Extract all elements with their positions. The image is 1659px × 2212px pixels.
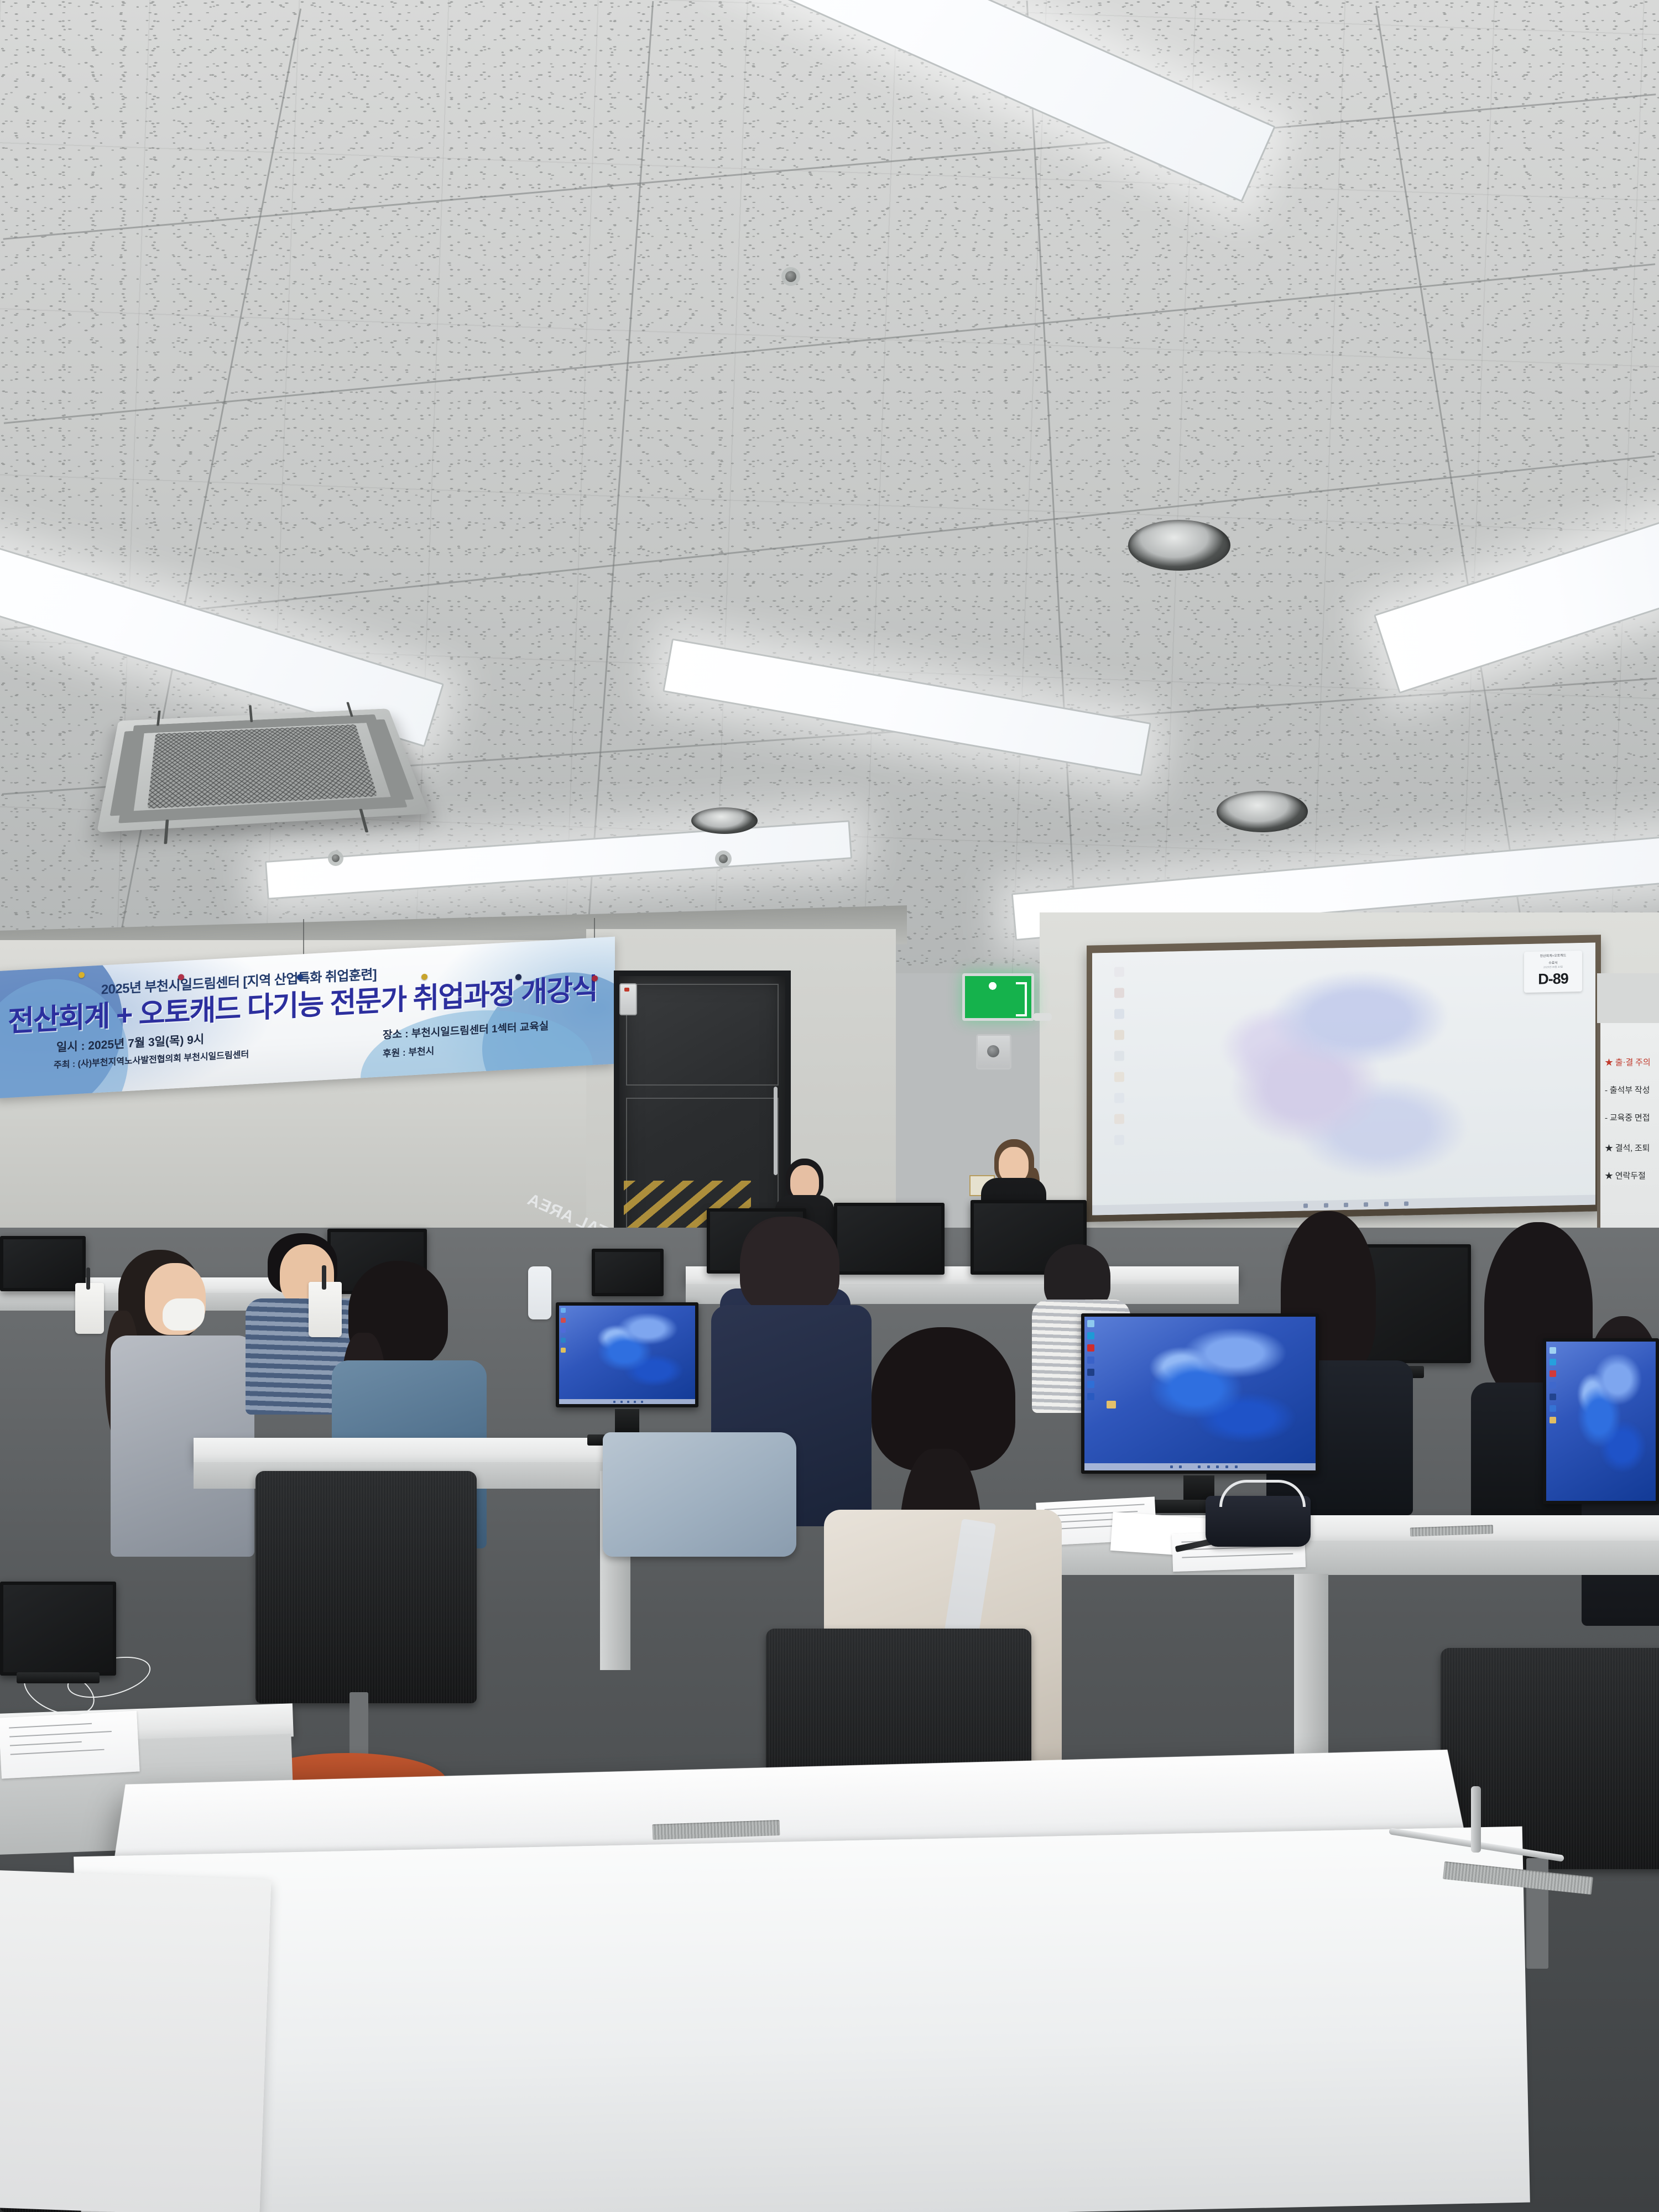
whiteboard-top bbox=[1597, 973, 1659, 1024]
desktop-icon[interactable] bbox=[1550, 1370, 1556, 1377]
desktop-icons bbox=[1087, 1320, 1102, 1405]
taskbar-icon[interactable] bbox=[1198, 1465, 1201, 1468]
whiteboard: ★ 출·결 주의 - 출석부 작성 - 교육중 면접 ★ 결석, 조퇴 ★ 연락… bbox=[1597, 1023, 1659, 1244]
emergency-exit-sign bbox=[962, 973, 1034, 1021]
monitor-screen[interactable] bbox=[1081, 1313, 1319, 1474]
whiteboard-line: ★ 출·결 주의 bbox=[1605, 1056, 1651, 1068]
desktop-icon bbox=[561, 1328, 566, 1333]
taskbar-icon bbox=[1384, 1202, 1389, 1206]
paper-line bbox=[10, 1749, 104, 1755]
monitor-arm-post bbox=[1471, 1786, 1481, 1853]
whiteboard-line: - 출석부 작성 bbox=[1605, 1084, 1650, 1095]
projection-screen-frame: 전산회계+오토캐드 수료식 2025년 09월 30일 D-89 bbox=[1087, 935, 1601, 1222]
banner-sponsor: 후원 : 부천시 bbox=[383, 1043, 434, 1060]
monitor-screen[interactable] bbox=[592, 1249, 664, 1296]
desktop-icon-app[interactable] bbox=[1087, 1357, 1094, 1364]
ceiling-speaker-icon bbox=[976, 1034, 1011, 1070]
taskbar[interactable] bbox=[559, 1399, 695, 1404]
card-reader-led bbox=[624, 988, 629, 992]
recessed-downlight bbox=[1128, 520, 1230, 571]
desktop-icon-app2[interactable] bbox=[1087, 1369, 1094, 1376]
recessed-downlight bbox=[691, 807, 758, 834]
taskbar-icon[interactable] bbox=[627, 1401, 629, 1403]
door-pane-upper bbox=[626, 984, 779, 1086]
desktop-icon bbox=[561, 1348, 566, 1353]
cup-straw bbox=[322, 1265, 326, 1290]
taskbar-icon[interactable] bbox=[634, 1401, 636, 1403]
desktop-icon[interactable] bbox=[1550, 1394, 1556, 1400]
countdown-value: D-89 bbox=[1524, 970, 1582, 988]
desktop-icon bbox=[1114, 988, 1124, 998]
monitor-screen[interactable] bbox=[1543, 1338, 1659, 1504]
desktop-icon bbox=[1114, 1009, 1124, 1019]
monitor-screen[interactable] bbox=[0, 1582, 116, 1676]
monitor-row2-right[interactable]: DELL bbox=[1081, 1313, 1319, 1474]
monitor-row2-left[interactable]: DELL bbox=[556, 1302, 698, 1407]
ceiling bbox=[0, 0, 1659, 973]
sprinkler-head bbox=[785, 271, 796, 282]
windows-bloom-wallpaper bbox=[583, 1313, 687, 1390]
paper-line bbox=[1182, 1553, 1293, 1558]
paper-line bbox=[9, 1723, 92, 1729]
whiteboard-line: ★ 연락두절 bbox=[1605, 1170, 1646, 1181]
desktop-icon-app3[interactable] bbox=[1087, 1381, 1094, 1388]
countdown-sign-line1: 전산회계+오토캐드 bbox=[1524, 953, 1582, 959]
denim-jacket bbox=[603, 1432, 796, 1557]
recessed-downlight bbox=[1217, 791, 1308, 832]
desktop-icon[interactable] bbox=[1550, 1382, 1556, 1389]
desktop-icon-recycle-bin[interactable] bbox=[1087, 1320, 1094, 1327]
monitor-far-right[interactable] bbox=[1543, 1338, 1659, 1504]
projection-screen[interactable]: 전산회계+오토캐드 수료식 2025년 09월 30일 D-89 bbox=[1092, 942, 1595, 1215]
desktop-icon bbox=[1114, 1135, 1124, 1145]
handout-paper-left bbox=[0, 1711, 140, 1779]
wall-hook bbox=[1033, 1013, 1052, 1021]
desktop-icon-edge[interactable] bbox=[1087, 1332, 1094, 1339]
classroom-scene: 2025년 부천시일드림센터 [지역 산업특화 취업훈련] 전산회계 + 오토캐… bbox=[0, 0, 1659, 2212]
desktop-icon bbox=[561, 1318, 566, 1323]
desktop-icon bbox=[1114, 1030, 1124, 1040]
taskbar-icon bbox=[1303, 1203, 1308, 1208]
desktop-icon bbox=[561, 1308, 566, 1313]
sprinkler-head bbox=[332, 854, 340, 862]
sprinkler-head bbox=[719, 854, 728, 863]
drink-cup bbox=[75, 1283, 104, 1334]
desktop-icon[interactable] bbox=[1550, 1417, 1556, 1423]
monitor-left-back-1[interactable] bbox=[0, 1236, 86, 1291]
windows-bloom-wallpaper bbox=[1566, 1354, 1649, 1479]
head bbox=[790, 1165, 819, 1199]
cup-straw bbox=[86, 1267, 90, 1290]
taskbar-icon[interactable] bbox=[620, 1401, 623, 1403]
paper-line bbox=[9, 1741, 81, 1746]
taskbar-icon bbox=[1404, 1202, 1408, 1206]
desktop-icon[interactable] bbox=[1550, 1405, 1556, 1412]
desktop-icon-app4[interactable] bbox=[1087, 1393, 1094, 1400]
projected-desktop-icons bbox=[1101, 967, 1138, 1156]
taskbar-icon[interactable] bbox=[641, 1401, 643, 1403]
foreground-table-top bbox=[74, 1827, 1530, 2212]
whiteboard-line: ★ 결석, 조퇴 bbox=[1605, 1142, 1650, 1154]
paper-line bbox=[9, 1731, 112, 1738]
left-desk-corner bbox=[0, 1870, 271, 2212]
desktop-icons bbox=[1550, 1347, 1562, 1428]
bag-handle bbox=[1219, 1480, 1306, 1507]
air-conditioner-cassette bbox=[97, 708, 429, 832]
desktop-icon bbox=[1114, 1093, 1124, 1103]
head bbox=[999, 1147, 1029, 1182]
desktop-icon-acrobat[interactable] bbox=[1087, 1344, 1094, 1352]
hair bbox=[740, 1217, 839, 1313]
taskbar-icon[interactable] bbox=[1216, 1465, 1219, 1468]
ac-vane bbox=[110, 731, 145, 816]
ac-grille bbox=[147, 724, 378, 808]
countdown-sign-line3: 2025년 09월 30일 bbox=[1524, 965, 1582, 969]
water-bottle bbox=[528, 1266, 551, 1319]
taskbar-icon[interactable] bbox=[1207, 1465, 1210, 1468]
desktop-icon bbox=[561, 1338, 566, 1343]
drink-cup bbox=[309, 1282, 342, 1337]
desktop-icon bbox=[1114, 1051, 1124, 1061]
taskbar-icon[interactable] bbox=[1225, 1465, 1228, 1468]
taskbar-icon bbox=[1364, 1202, 1368, 1207]
taskbar-start-icon[interactable] bbox=[1170, 1465, 1173, 1468]
countdown-sign: 전산회계+오토캐드 수료식 2025년 09월 30일 D-89 bbox=[1524, 951, 1582, 993]
taskbar-search-icon[interactable] bbox=[1179, 1465, 1182, 1468]
desktop-icon bbox=[1114, 1072, 1124, 1082]
desktop-icon[interactable] bbox=[1550, 1347, 1556, 1354]
taskbar-icon[interactable] bbox=[613, 1401, 615, 1403]
desk-row-middle-left bbox=[194, 1438, 647, 1464]
monitor-screen[interactable] bbox=[556, 1302, 698, 1407]
monitor-left-front[interactable] bbox=[0, 1582, 116, 1676]
exit-door-icon bbox=[1016, 982, 1027, 1016]
monitor-screen[interactable] bbox=[0, 1236, 86, 1291]
taskbar-icon bbox=[1344, 1203, 1348, 1207]
desktop-icon bbox=[1114, 967, 1124, 977]
desktop-icons bbox=[561, 1308, 570, 1358]
chair-backrest[interactable] bbox=[255, 1471, 477, 1703]
desktop-icon-folder[interactable] bbox=[1107, 1401, 1116, 1408]
windows-bloom-wallpaper bbox=[1126, 1329, 1302, 1449]
running-person-icon bbox=[979, 982, 1001, 1013]
desktop-icon bbox=[1114, 1114, 1124, 1124]
windows-bloom-wallpaper bbox=[1192, 967, 1479, 1194]
whiteboard-line: - 교육중 면접 bbox=[1605, 1112, 1650, 1123]
chair-middle-left[interactable] bbox=[255, 1471, 477, 1703]
monitor-base bbox=[17, 1672, 100, 1683]
taskbar-icon bbox=[1324, 1203, 1328, 1208]
face-mask bbox=[163, 1298, 205, 1331]
taskbar-icon[interactable] bbox=[1235, 1465, 1238, 1468]
desktop-icon[interactable] bbox=[1550, 1359, 1556, 1365]
monitor-left-back-3[interactable] bbox=[592, 1249, 664, 1296]
taskbar[interactable] bbox=[1084, 1463, 1316, 1470]
